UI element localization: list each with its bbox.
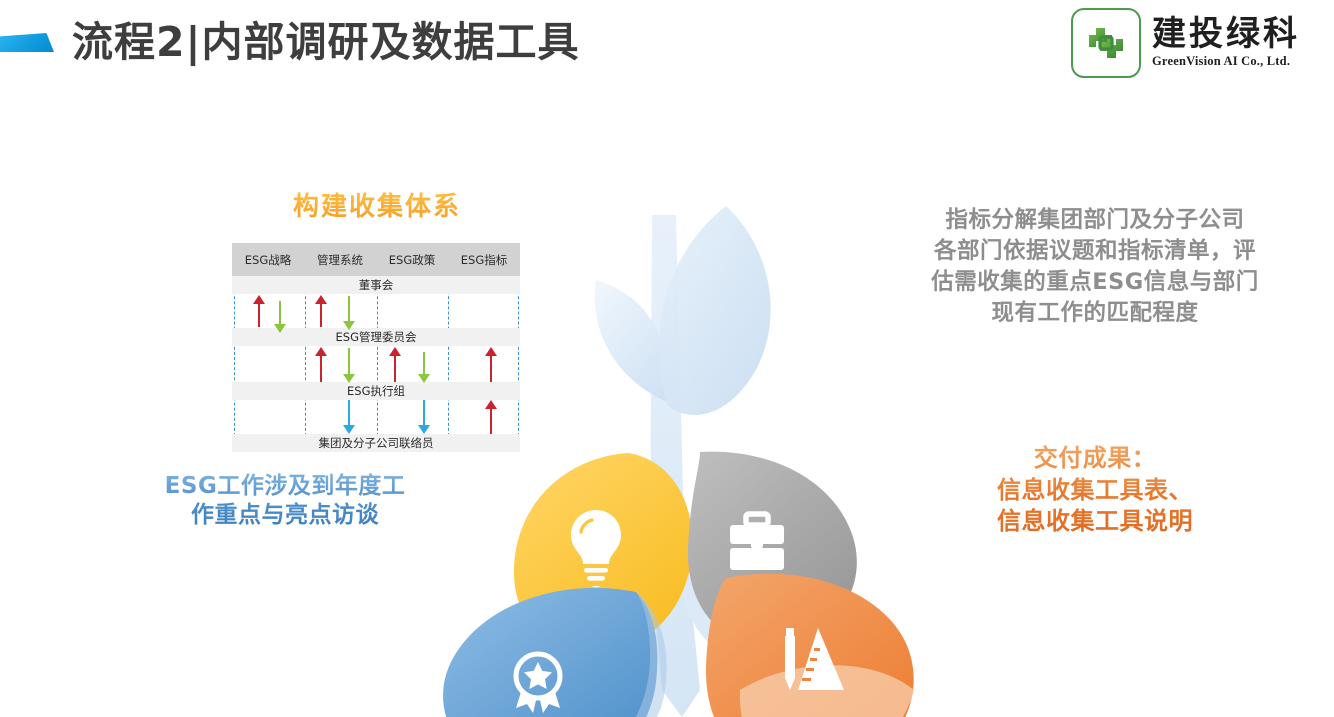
callout-gray-line3: 估需收集的重点ESG信息与部门 — [890, 267, 1300, 298]
slide-header: 流程2|内部调研及数据工具 建投绿科 GreenVisi — [0, 0, 1334, 95]
matrix-col-header: ESG政策 — [376, 252, 448, 268]
flow-arrow-down — [274, 301, 286, 333]
callout-gray-line1: 指标分解集团部门及分子公司 — [890, 205, 1300, 236]
callout-blue-line1: ESG工作涉及到年度工 — [140, 472, 430, 501]
page-title: 流程2|内部调研及数据工具 — [72, 8, 580, 68]
flow-arrow-up — [253, 295, 265, 327]
column-divider — [448, 276, 449, 436]
orange-leaf — [706, 574, 914, 717]
column-divider — [377, 276, 378, 436]
collection-system-diagram: 构建收集体系 ESG战略 管理系统 ESG政策 ESG指标 董 — [232, 186, 522, 436]
flow-arrow-down-cyan — [418, 400, 430, 434]
flow-arrow-down-cyan — [343, 400, 355, 434]
matrix-header-row: ESG战略 管理系统 ESG政策 ESG指标 — [232, 243, 520, 276]
flow-arrow-up — [389, 347, 401, 382]
collection-system-title: 构建收集体系 — [232, 186, 522, 223]
matrix-gap-row — [232, 346, 520, 382]
callout-orange: 交付成果： 信息收集工具表、 信息收集工具说明 — [940, 443, 1250, 538]
logo-text-block: 建投绿科 GreenVision AI Co., Ltd. — [1152, 17, 1300, 70]
callout-orange-line1: 交付成果： — [940, 443, 1250, 475]
callout-blue: ESG工作涉及到年度工 作重点与亮点访谈 — [140, 472, 430, 531]
callout-gray-line2: 各部门依据议题和指标清单，评 — [890, 236, 1300, 267]
matrix-col-header: ESG战略 — [232, 252, 304, 268]
flow-arrow-up — [315, 295, 327, 327]
company-logo: 建投绿科 GreenVision AI Co., Ltd. — [1071, 8, 1300, 78]
matrix-row-label: 集团及分子公司联络员 — [232, 434, 520, 452]
flow-arrow-up — [315, 347, 327, 382]
flow-arrow-up — [485, 347, 497, 382]
column-divider — [234, 276, 235, 436]
matrix-row-label: 董事会 — [232, 276, 520, 294]
matrix-body: 董事会 ESG管理委员会 ESG执行组 集团及分子公司联络员 — [232, 276, 520, 436]
flow-arrow-down — [343, 348, 355, 383]
matrix-col-header: 管理系统 — [304, 252, 376, 268]
column-divider — [518, 276, 519, 436]
blue-leaf — [443, 588, 667, 717]
blue-parallelogram-accent-icon — [0, 33, 54, 52]
flow-arrow-down — [343, 296, 355, 330]
flow-arrow-up — [485, 400, 497, 434]
matrix-row-label: ESG执行组 — [232, 382, 520, 400]
callout-gray: 指标分解集团部门及分子公司 各部门依据议题和指标清单，评 估需收集的重点ESG信… — [890, 205, 1300, 329]
logo-company-cn: 建投绿科 — [1152, 17, 1300, 53]
callout-orange-line3: 信息收集工具说明 — [940, 506, 1250, 538]
logo-company-en: GreenVision AI Co., Ltd. — [1152, 54, 1300, 69]
matrix-col-header: ESG指标 — [448, 252, 520, 268]
slide-root: 流程2|内部调研及数据工具 建投绿科 GreenVisi — [0, 0, 1334, 717]
callout-blue-line2: 作重点与亮点访谈 — [140, 501, 430, 530]
collection-matrix: ESG战略 管理系统 ESG政策 ESG指标 董事会 ESG管理委员会 — [232, 243, 520, 436]
flow-arrow-down — [418, 352, 430, 383]
callout-orange-line2: 信息收集工具表、 — [940, 475, 1250, 507]
greenvision-cross-logo-icon — [1071, 8, 1141, 78]
matrix-gap-row — [232, 400, 520, 434]
column-divider — [305, 276, 306, 436]
callout-gray-line4: 现有工作的匹配程度 — [890, 298, 1300, 329]
